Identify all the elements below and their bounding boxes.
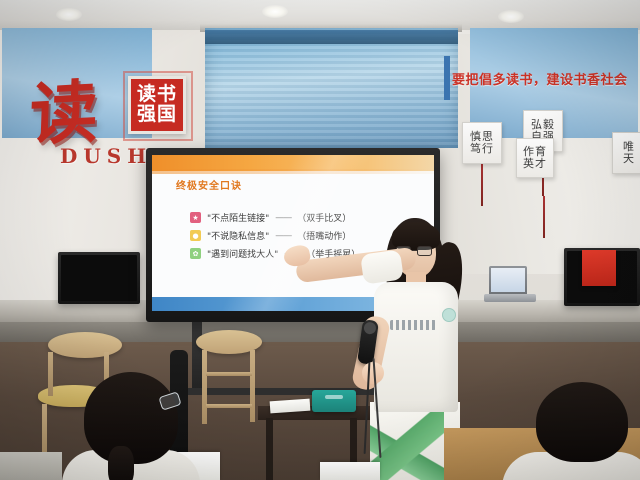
plaque-rod	[481, 162, 483, 206]
presenter-skirt-print	[370, 412, 444, 480]
chair-leg	[206, 372, 252, 376]
plaque-4-line2: 天	[623, 153, 635, 165]
slide-ribbon	[152, 169, 434, 174]
student-left-foreground	[66, 372, 196, 480]
presenter-shirt-print	[390, 320, 436, 330]
slide-title: 终极安全口诀	[176, 177, 242, 192]
dushu-plaque-line2: 强国	[137, 105, 177, 125]
ceiling-light-icon	[498, 10, 524, 23]
shield-red-icon: ★	[190, 212, 201, 223]
chair-leg	[48, 352, 53, 396]
student-right-hair	[536, 382, 628, 462]
foreground-desk	[0, 452, 62, 480]
presenter-sleeve	[360, 249, 404, 284]
laptop-screen	[491, 268, 525, 292]
reading-society-banner: 要把倡多读书，建设书香社会	[452, 66, 640, 90]
banner-edge	[444, 56, 450, 100]
chair-leg	[206, 404, 252, 408]
student-right-foreground	[524, 378, 640, 480]
presenter-shirt-badge	[442, 308, 456, 322]
ceiling-light-icon	[262, 5, 288, 18]
presenter-shirt	[374, 282, 458, 412]
dushu-plaque: 读书 强国	[128, 76, 186, 134]
window-blinds	[205, 28, 458, 148]
glasses-lens-right	[417, 246, 432, 256]
plaque-2-line2: 英才	[523, 158, 547, 170]
plaque-rod	[543, 196, 545, 238]
red-folder-icon	[582, 250, 616, 286]
left-monitor	[58, 252, 140, 304]
student-left-ponytail	[108, 446, 134, 480]
table-leg	[266, 418, 273, 480]
slide-row-quote: "不说隐私信息"	[207, 229, 269, 242]
slide-row-dash: ——	[275, 213, 291, 223]
chair-leg	[250, 350, 255, 422]
classroom-photo: 读 读书 强国 DUSHU 要把倡多读书，建设书香社会 慎思 笃行 弘毅 自强 …	[0, 0, 640, 480]
hanging-plaque-1: 慎思 笃行	[462, 122, 502, 164]
laptop-base	[484, 294, 536, 302]
ceiling-light-icon	[56, 8, 82, 21]
badge-yellow-icon: ●	[190, 230, 201, 241]
chair-leg	[202, 350, 207, 424]
leaf-green-icon: ✿	[190, 248, 201, 259]
blind-valance	[205, 30, 458, 44]
hanging-plaque-2: 作育 英才	[516, 138, 554, 178]
plaque-1-line2: 笃行	[470, 143, 494, 155]
left-monitor-screen	[61, 255, 137, 301]
chair-backrest	[48, 332, 122, 358]
foreground-papers	[320, 462, 380, 480]
dushu-plaque-line1: 读书	[137, 85, 177, 105]
slide-row-quote: "遇到问题找大人"	[207, 247, 278, 260]
slide-row-quote: "不点陌生链接"	[207, 211, 269, 224]
laptop-lid	[489, 266, 527, 294]
slide-row-dash: ——	[275, 231, 291, 241]
hanging-plaque-4: 唯 天	[612, 132, 640, 174]
